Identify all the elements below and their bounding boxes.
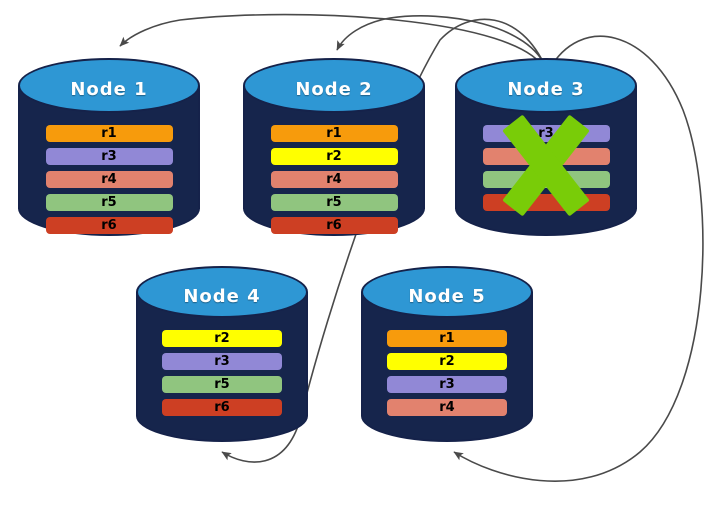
replica-row[interactable]	[483, 194, 610, 211]
cylinder-top	[361, 266, 533, 318]
node-2[interactable]: Node 2r1r2r4r5r6	[243, 58, 425, 236]
replica-row[interactable]: r2	[271, 148, 398, 165]
replica-row[interactable]: r2	[162, 330, 282, 347]
node-2-replica-list: r1r2r4r5r6	[243, 125, 425, 240]
replica-row[interactable]: r6	[271, 217, 398, 234]
replica-row[interactable]: r1	[46, 125, 173, 142]
replica-row[interactable]: r5	[46, 194, 173, 211]
node-5[interactable]: Node 5r1r2r3r4	[361, 266, 533, 442]
cylinder-top	[18, 58, 200, 113]
replica-row[interactable]: r4	[46, 171, 173, 188]
node-4[interactable]: Node 4r2r3r5r6	[136, 266, 308, 442]
node-4-replica-list: r2r3r5r6	[136, 330, 308, 422]
replica-row[interactable]: r5	[162, 376, 282, 393]
replica-row[interactable]: r3	[162, 353, 282, 370]
cylinder-top	[243, 58, 425, 113]
replica-row[interactable]: r1	[271, 125, 398, 142]
replica-row[interactable]: r4	[271, 171, 398, 188]
cylinder-top	[136, 266, 308, 318]
node-1[interactable]: Node 1r1r3r4r5r6	[18, 58, 200, 236]
replica-row[interactable]: r5	[271, 194, 398, 211]
replica-row[interactable]: r6	[162, 399, 282, 416]
cylinder-top	[455, 58, 637, 113]
replica-row[interactable]: r4	[387, 399, 507, 416]
diagram-canvas: Node 1r1r3r4r5r6Node 2r1r2r4r5r6Node 3r3…	[0, 0, 708, 508]
replica-row[interactable]: r2	[387, 353, 507, 370]
replica-row[interactable]: r3	[46, 148, 173, 165]
node-1-replica-list: r1r3r4r5r6	[18, 125, 200, 240]
replica-row[interactable]	[483, 148, 610, 165]
node-3-replica-list: r3	[455, 125, 637, 217]
node-5-replica-list: r1r2r3r4	[361, 330, 533, 422]
node-3[interactable]: Node 3r3	[455, 58, 637, 236]
replica-row[interactable]	[483, 171, 610, 188]
replica-row[interactable]: r6	[46, 217, 173, 234]
replica-row[interactable]: r3	[387, 376, 507, 393]
replica-row[interactable]: r1	[387, 330, 507, 347]
replica-row[interactable]: r3	[483, 125, 610, 142]
